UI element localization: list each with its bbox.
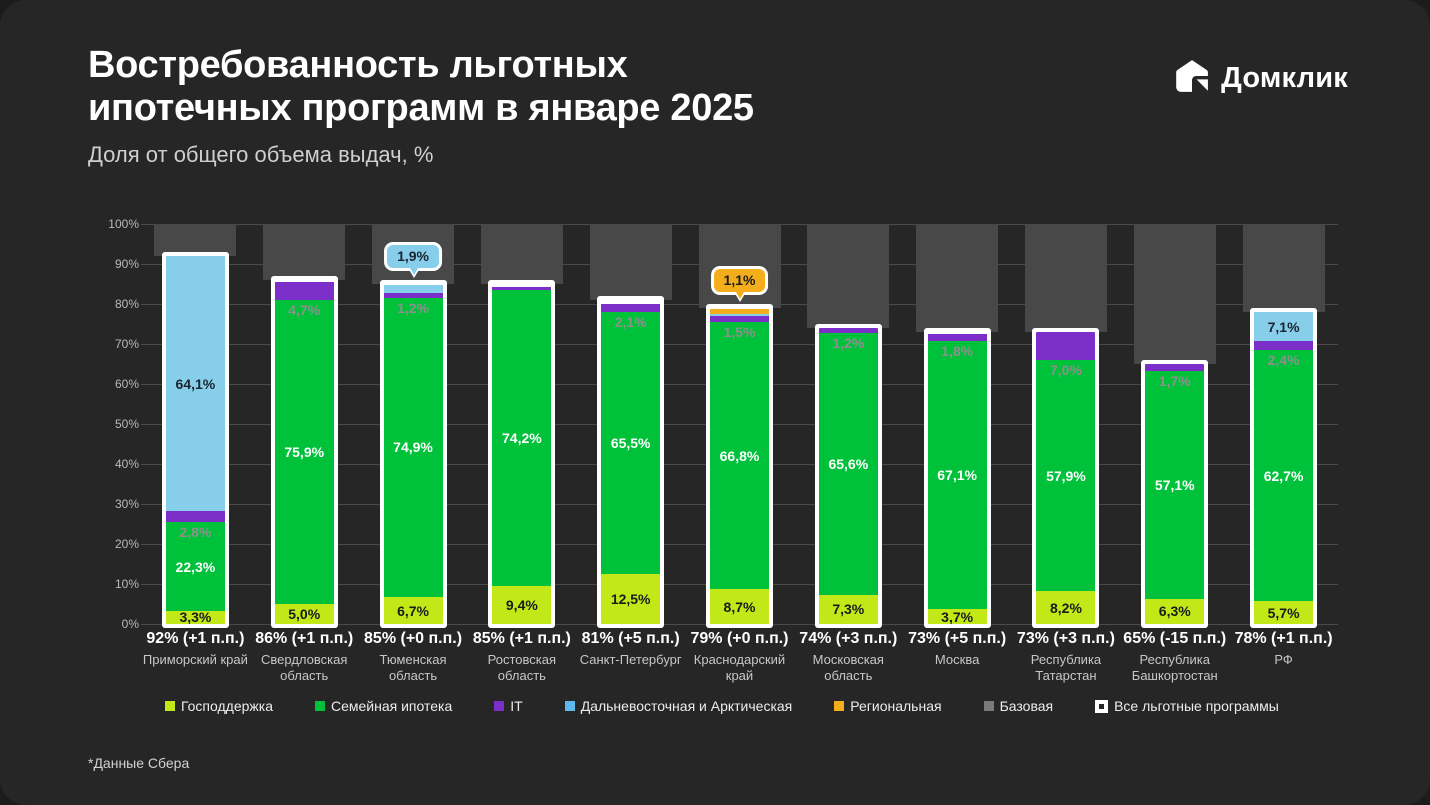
segment-value-label: 66,8% <box>710 448 769 464</box>
legend-swatch-icon <box>494 701 504 711</box>
segment-callout: 1,1% <box>711 266 769 295</box>
y-axis-tick: 60% <box>93 377 139 391</box>
bar-segment[interactable]: 3,7% <box>928 609 987 624</box>
x-axis-label: 85% (+0 п.п.)Тюменская область <box>359 630 468 685</box>
x-axis-label: 74% (+3 п.п.)Московская область <box>794 630 903 685</box>
bar-segment[interactable]: 1,7% <box>1145 364 1204 371</box>
bar-region-label: Республика Татарстан <box>1012 652 1121 685</box>
stacked-bar[interactable]: 9,4%74,2% <box>488 280 555 628</box>
bar-segment[interactable]: 65,5% <box>601 312 660 574</box>
segment-value-label: 1,2% <box>819 335 878 351</box>
stacked-bar[interactable]: 5,7%62,7%2,4%7,1% <box>1250 308 1317 628</box>
x-axis-label: 78% (+1 п.п.)РФ <box>1229 630 1338 668</box>
segment-value-label: 7,1% <box>1254 319 1313 335</box>
bar-total-label: 92% (+1 п.п.) <box>141 630 250 648</box>
segment-value-label: 65,6% <box>819 456 878 472</box>
stacked-bar-segments: 5,7%62,7%2,4%7,1% <box>1254 312 1313 624</box>
segment-value-label: 9,4% <box>492 597 551 613</box>
segment-callout: 1,9% <box>384 242 442 271</box>
bar-segment[interactable]: 1,2% <box>384 293 443 298</box>
brand-name: Домклик <box>1221 62 1348 95</box>
bar-segment[interactable]: 64,1% <box>166 256 225 511</box>
legend-item[interactable]: Все льготные программы <box>1095 698 1279 714</box>
base-segment <box>263 224 345 280</box>
bar-segment[interactable]: 74,2% <box>492 290 551 587</box>
bar-segment[interactable]: 8,2% <box>1036 591 1095 624</box>
legend-item[interactable]: Базовая <box>984 698 1054 714</box>
segment-value-label: 1,7% <box>1145 373 1204 389</box>
legend-swatch-icon <box>315 701 325 711</box>
bar-segment[interactable]: 2,4% <box>1254 341 1313 351</box>
segment-value-label: 6,7% <box>384 603 443 619</box>
stacked-bar-segments: 6,7%74,9%1,2% <box>384 284 443 624</box>
bar-segment[interactable]: 12,5% <box>601 574 660 624</box>
bar-total-label: 78% (+1 п.п.) <box>1229 630 1338 648</box>
bar-segment[interactable]: 5,0% <box>275 604 334 624</box>
bar-segment[interactable]: 3,3% <box>166 611 225 624</box>
x-axis-label: 86% (+1 п.п.)Свердловская область <box>250 630 359 685</box>
base-segment <box>1025 224 1107 332</box>
bar-segment[interactable]: 2,1% <box>601 304 660 312</box>
domclick-house-icon <box>1174 58 1210 99</box>
legend-label: Господдержка <box>181 698 273 714</box>
bar-segment[interactable]: 1,8% <box>928 334 987 341</box>
bar-segment[interactable] <box>710 314 769 316</box>
segment-value-label: 62,7% <box>1254 468 1313 484</box>
stacked-bar[interactable]: 5,0%75,9%4,7% <box>271 276 338 628</box>
stacked-bar-segments: 3,3%22,3%2,8%64,1% <box>166 256 225 624</box>
stacked-bar-segments: 6,3%57,1%1,7% <box>1145 364 1204 624</box>
bar-total-label: 73% (+3 п.п.) <box>1012 630 1121 648</box>
segment-value-label: 7,0% <box>1036 362 1095 378</box>
stacked-bar-segments: 5,0%75,9%4,7% <box>275 280 334 624</box>
bar-segment[interactable]: 6,3% <box>1145 599 1204 624</box>
y-axis-tick: 30% <box>93 497 139 511</box>
bar-segment[interactable]: 1,5% <box>710 316 769 322</box>
bar-total-label: 74% (+3 п.п.) <box>794 630 903 648</box>
bar-segment[interactable]: 66,8% <box>710 322 769 589</box>
page-title: Востребованность льготных ипотечных прог… <box>88 44 968 130</box>
bar-total-label: 65% (-15 п.п.) <box>1120 630 1229 648</box>
segment-value-label: 2,1% <box>601 314 660 330</box>
stacked-bar-segments: 8,7%66,8%1,5% <box>710 308 769 624</box>
segment-value-label: 1,8% <box>928 343 987 359</box>
y-axis-tick: 100% <box>93 217 139 231</box>
legend-label: Семейная ипотека <box>331 698 452 714</box>
bar-region-label: Ростовская область <box>467 652 576 685</box>
stacked-bar-segments: 3,7%67,1%1,8% <box>928 332 987 624</box>
y-axis-tick: 0% <box>93 617 139 631</box>
stacked-bar[interactable]: 12,5%65,5%2,1% <box>597 296 664 628</box>
segment-value-label: 2,4% <box>1254 352 1313 368</box>
bar-segment[interactable]: 7,1% <box>1254 312 1313 340</box>
stacked-bar-segments: 12,5%65,5%2,1% <box>601 300 660 624</box>
segment-value-label: 3,7% <box>928 609 987 624</box>
legend-swatch-icon <box>165 701 175 711</box>
bar-segment[interactable]: 67,1% <box>928 341 987 609</box>
bar-total-label: 79% (+0 п.п.) <box>685 630 794 648</box>
y-axis-tick: 10% <box>93 577 139 591</box>
base-segment <box>481 224 563 284</box>
x-axis-label: 73% (+3 п.п.)Республика Татарстан <box>1012 630 1121 685</box>
stacked-bar[interactable]: 6,3%57,1%1,7% <box>1141 360 1208 628</box>
segment-value-label: 75,9% <box>275 444 334 460</box>
bar-segment[interactable]: 9,4% <box>492 586 551 624</box>
bar-segment[interactable]: 74,9% <box>384 298 443 598</box>
bar-segment[interactable]: 2,8% <box>166 511 225 522</box>
segment-value-label: 57,9% <box>1036 468 1095 484</box>
x-axis-label: 81% (+5 п.п.)Санкт-Петербург <box>576 630 685 668</box>
legend-swatch-icon <box>1095 700 1108 713</box>
y-axis-tick: 80% <box>93 297 139 311</box>
stacked-bar-segments: 8,2%57,9%7,0% <box>1036 332 1095 624</box>
bar-total-label: 85% (+0 п.п.) <box>359 630 468 648</box>
legend-item[interactable]: Дальневосточная и Арктическая <box>565 698 793 714</box>
bar-region-label: Свердловская область <box>250 652 359 685</box>
stacked-bar[interactable]: 3,3%22,3%2,8%64,1% <box>162 252 229 628</box>
bar-segment[interactable]: 75,9% <box>275 300 334 604</box>
segment-value-label: 3,3% <box>166 609 225 624</box>
segment-value-label: 64,1% <box>166 376 225 392</box>
legend-label: IT <box>510 698 522 714</box>
bar-region-label: Московская область <box>794 652 903 685</box>
x-axis-label: 73% (+5 п.п.)Москва <box>903 630 1012 668</box>
segment-value-label: 8,7% <box>710 599 769 615</box>
stacked-bar[interactable]: 7,3%65,6%1,2% <box>815 324 882 628</box>
bar-region-label: Москва <box>903 652 1012 668</box>
bar-region-label: Республика Башкортостан <box>1120 652 1229 685</box>
bar-region-label: Приморский край <box>141 652 250 668</box>
legend-swatch-icon <box>984 701 994 711</box>
segment-value-label: 6,3% <box>1145 603 1204 619</box>
legend-label: Региональная <box>850 698 941 714</box>
stacked-bar[interactable]: 3,7%67,1%1,8% <box>924 328 991 628</box>
stacked-bar[interactable]: 8,7%66,8%1,5% <box>706 304 773 628</box>
bar-segment[interactable]: 5,7% <box>1254 601 1313 624</box>
bar-segment[interactable]: 7,0% <box>1036 332 1095 360</box>
base-segment <box>807 224 889 328</box>
segment-value-label: 74,9% <box>384 439 443 455</box>
bar-total-label: 85% (+1 п.п.) <box>467 630 576 648</box>
footnote: *Данные Сбера <box>88 755 189 771</box>
legend-swatch-icon <box>565 701 575 711</box>
bar-segment[interactable]: 57,9% <box>1036 360 1095 591</box>
bar-segment[interactable]: 7,3% <box>819 595 878 624</box>
bar-total-label: 86% (+1 п.п.) <box>250 630 359 648</box>
chart-card: Востребованность льготных ипотечных прог… <box>0 0 1430 805</box>
segment-value-label: 7,3% <box>819 601 878 617</box>
segment-value-label: 5,7% <box>1254 605 1313 621</box>
x-axis-label: 92% (+1 п.п.)Приморский край <box>141 630 250 668</box>
y-axis-tick: 50% <box>93 417 139 431</box>
bar-region-label: Тюменская область <box>359 652 468 685</box>
bar-region-label: РФ <box>1229 652 1338 668</box>
brand-logo: Домклик <box>1174 58 1348 99</box>
segment-value-label: 1,5% <box>710 324 769 340</box>
segment-value-label: 57,1% <box>1145 477 1204 493</box>
y-axis-tick: 90% <box>93 257 139 271</box>
segment-value-label: 67,1% <box>928 467 987 483</box>
legend-item[interactable]: IT <box>494 698 522 714</box>
base-segment <box>590 224 672 300</box>
bar-region-label: Краснодарский край <box>685 652 794 685</box>
stacked-bar-segments: 7,3%65,6%1,2% <box>819 328 878 624</box>
segment-value-label: 65,5% <box>601 435 660 451</box>
bar-total-label: 81% (+5 п.п.) <box>576 630 685 648</box>
segment-value-label: 74,2% <box>492 430 551 446</box>
segment-value-label: 1,2% <box>384 300 443 316</box>
y-axis-tick: 70% <box>93 337 139 351</box>
legend-label: Базовая <box>1000 698 1054 714</box>
base-segment <box>1243 224 1325 312</box>
legend-item[interactable]: Региональная <box>834 698 941 714</box>
stacked-bar-segments: 9,4%74,2% <box>492 284 551 624</box>
bar-segment[interactable]: 6,7% <box>384 597 443 624</box>
base-segment <box>1134 224 1216 364</box>
legend-swatch-icon <box>834 701 844 711</box>
base-segment <box>916 224 998 332</box>
chart-subtitle: Доля от общего объема выдач, % <box>88 142 1348 168</box>
y-axis: 0%10%20%30%40%50%60%70%80%90%100% <box>93 224 139 624</box>
bar-segment[interactable]: 8,7% <box>710 589 769 624</box>
segment-value-label: 5,0% <box>275 606 334 622</box>
bar-segment[interactable]: 65,6% <box>819 333 878 595</box>
chart-header: Востребованность льготных ипотечных прог… <box>88 44 1348 168</box>
y-axis-tick: 20% <box>93 537 139 551</box>
bar-region-label: Санкт-Петербург <box>576 652 685 668</box>
segment-value-label: 8,2% <box>1036 600 1095 616</box>
segment-value-label: 22,3% <box>166 559 225 575</box>
bar-segment[interactable]: 4,7% <box>275 282 334 301</box>
stacked-bar[interactable]: 6,7%74,9%1,2% <box>380 280 447 628</box>
bar-total-label: 73% (+5 п.п.) <box>903 630 1012 648</box>
plot-area: 3,3%22,3%2,8%64,1%5,0%75,9%4,7%6,7%74,9%… <box>141 224 1338 624</box>
x-axis-label: 85% (+1 п.п.)Ростовская область <box>467 630 576 685</box>
bar-segment[interactable]: 1,2% <box>819 328 878 333</box>
segment-value-label: 2,8% <box>166 524 225 540</box>
stacked-bar[interactable]: 8,2%57,9%7,0% <box>1032 328 1099 628</box>
legend-item[interactable]: Семейная ипотека <box>315 698 452 714</box>
y-axis-tick: 40% <box>93 457 139 471</box>
bar-segment[interactable]: 57,1% <box>1145 371 1204 599</box>
segment-value-label: 12,5% <box>601 591 660 607</box>
x-axis-label: 65% (-15 п.п.)Республика Башкортостан <box>1120 630 1229 685</box>
legend-label: Дальневосточная и Арктическая <box>581 698 793 714</box>
legend-label: Все льготные программы <box>1114 698 1279 714</box>
bar-segment[interactable]: 62,7% <box>1254 350 1313 601</box>
x-axis-label: 79% (+0 п.п.)Краснодарский край <box>685 630 794 685</box>
legend-item[interactable]: Господдержка <box>165 698 273 714</box>
segment-value-label: 4,7% <box>275 302 334 318</box>
bar-segment[interactable] <box>492 287 551 289</box>
chart-legend: ГосподдержкаСемейная ипотекаITДальневост… <box>165 698 1321 714</box>
bar-segment[interactable] <box>384 285 443 293</box>
bar-segment[interactable] <box>710 309 769 313</box>
